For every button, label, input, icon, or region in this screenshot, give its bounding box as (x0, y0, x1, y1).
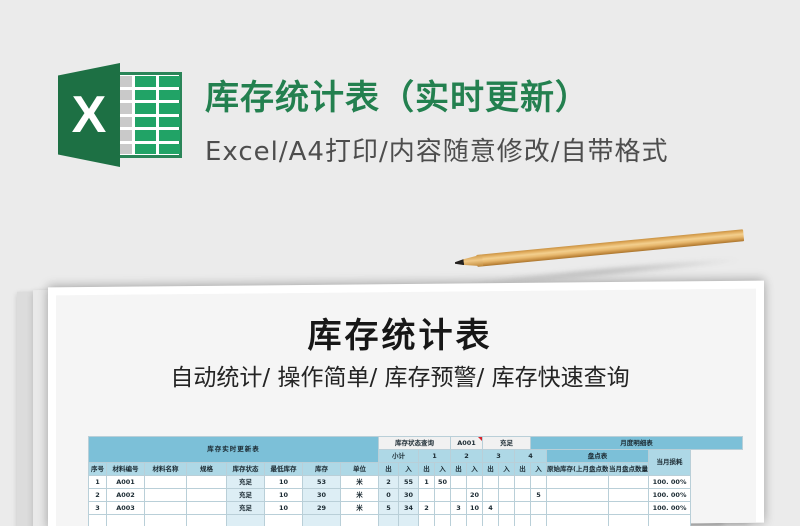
column-header-stocktake-qty: 当月盘点数量 (609, 463, 649, 476)
cell-month-3-in[interactable] (499, 489, 515, 502)
cell-month-2-in[interactable] (467, 515, 483, 526)
excel-logo-icon: X (58, 61, 182, 169)
cell-material-name[interactable] (145, 502, 187, 515)
cell-subtotal-out[interactable] (379, 515, 399, 526)
month-2-out-header: 出 (451, 463, 467, 476)
cell-spec[interactable] (187, 515, 227, 526)
cell-monthly-loss[interactable] (649, 515, 691, 526)
cell-stocktake-qty[interactable] (609, 476, 649, 489)
cell-month-4-in[interactable] (531, 515, 547, 526)
cell-material-code[interactable]: A001 (107, 476, 145, 489)
document-title: 库存统计表 (0, 308, 800, 357)
query-material-value: A001 (457, 439, 476, 447)
column-header-loss: 当月损耗 (649, 450, 691, 476)
cell-month-4-in[interactable] (531, 502, 547, 515)
column-header-stock: 库存 (303, 463, 341, 476)
month-2-in-header: 入 (467, 463, 483, 476)
table-row[interactable]: 1A001充足1053米255150100. 00% (89, 476, 743, 489)
table-body: 1A001充足1053米255150100. 00%2A002充足1030米03… (89, 476, 743, 526)
column-header-index: 序号 (89, 463, 107, 476)
cell-subtotal-out[interactable]: 2 (379, 476, 399, 489)
cell-month-1-out[interactable] (419, 515, 435, 526)
poster-canvas: X 库存统计表（实时更新） Excel/A4打印/内容随意修改/自带格式 库存统… (0, 0, 800, 526)
cell-month-3-in[interactable] (499, 476, 515, 489)
cell-month-3-in[interactable] (499, 515, 515, 526)
cell-row-index[interactable]: 2 (89, 489, 107, 502)
month-1-in-header: 入 (435, 463, 451, 476)
column-header-min-stock: 最低库存 (265, 463, 303, 476)
cell-month-2-out[interactable] (451, 489, 467, 502)
cell-monthly-loss[interactable]: 100. 00% (649, 476, 691, 489)
cell-original-stock[interactable] (547, 515, 609, 526)
cell-subtotal-out[interactable]: 0 (379, 489, 399, 502)
cell-original-stock[interactable] (547, 476, 609, 489)
cell-material-name[interactable] (145, 515, 187, 526)
pencil-tip (455, 259, 465, 266)
table-row[interactable]: 2A002充足1030米030205100. 00% (89, 489, 743, 502)
subtotal-in-header: 入 (399, 463, 419, 476)
cell-material-code[interactable]: A002 (107, 489, 145, 502)
cell-month-4-in[interactable]: 5 (531, 489, 547, 502)
cell-stock[interactable] (303, 515, 341, 526)
cell-month-3-out[interactable] (483, 476, 499, 489)
cell-min-stock[interactable]: 10 (265, 489, 303, 502)
cell-unit[interactable]: 米 (341, 502, 379, 515)
table-band-row: 库存实时更新表 库存状态查询 A001 充足 月度明细表 (89, 437, 743, 450)
inventory-table: 库存实时更新表 库存状态查询 A001 充足 月度明细表 小计 1 2 3 4 (88, 436, 743, 526)
cell-original-stock[interactable] (547, 502, 609, 515)
cell-stock[interactable]: 30 (303, 489, 341, 502)
cell-subtotal-in[interactable]: 34 (399, 502, 419, 515)
cell-month-1-out[interactable] (419, 489, 435, 502)
cell-unit[interactable]: 米 (341, 489, 379, 502)
cell-original-stock[interactable] (547, 489, 609, 502)
cell-unit[interactable]: 米 (341, 476, 379, 489)
cell-material-code[interactable]: A003 (107, 502, 145, 515)
month-4-in-header: 入 (531, 463, 547, 476)
group-header-stocktake: 盘点表 (547, 450, 649, 463)
month-1-out-header: 出 (419, 463, 435, 476)
page-subtitle: Excel/A4打印/内容随意修改/自带格式 (205, 131, 785, 168)
cell-material-name[interactable] (145, 476, 187, 489)
cell-stock[interactable]: 29 (303, 502, 341, 515)
comment-marker-icon (478, 437, 482, 441)
cell-month-2-in[interactable] (467, 476, 483, 489)
query-label: 库存状态查询 (379, 437, 451, 450)
cell-month-4-out[interactable] (515, 476, 531, 489)
cell-month-3-out[interactable] (483, 515, 499, 526)
cell-stock-status[interactable]: 充足 (227, 502, 265, 515)
cell-min-stock[interactable]: 10 (265, 502, 303, 515)
cell-stock[interactable]: 53 (303, 476, 341, 489)
cell-month-2-out[interactable] (451, 515, 467, 526)
cell-unit[interactable] (341, 515, 379, 526)
cell-month-1-out[interactable]: 1 (419, 476, 435, 489)
cell-month-1-out[interactable]: 2 (419, 502, 435, 515)
cell-stock-status[interactable]: 充足 (227, 476, 265, 489)
column-header-material-name: 材料名称 (145, 463, 187, 476)
cell-month-3-in[interactable] (499, 502, 515, 515)
cell-month-2-in[interactable]: 20 (467, 489, 483, 502)
cell-spec[interactable] (187, 476, 227, 489)
cell-month-1-in[interactable] (435, 489, 451, 502)
month-4-out-header: 出 (515, 463, 531, 476)
cell-row-index[interactable] (89, 515, 107, 526)
column-header-spec: 规格 (187, 463, 227, 476)
cell-min-stock[interactable]: 10 (265, 476, 303, 489)
query-status-value: 充足 (483, 437, 531, 450)
page-title: 库存统计表（实时更新） (205, 70, 785, 119)
cell-month-2-in[interactable]: 10 (467, 502, 483, 515)
cell-stock-status[interactable]: 充足 (227, 489, 265, 502)
month-3-in-header: 入 (499, 463, 515, 476)
cell-row-index[interactable]: 1 (89, 476, 107, 489)
cell-month-1-in[interactable] (435, 515, 451, 526)
band-title: 库存实时更新表 (89, 437, 379, 463)
column-header-unit: 单位 (341, 463, 379, 476)
cell-stocktake-qty[interactable] (609, 502, 649, 515)
subtotal-out-header: 出 (379, 463, 399, 476)
group-header-subtotal: 小计 (379, 450, 419, 463)
cell-month-1-in[interactable] (435, 502, 451, 515)
cell-monthly-loss[interactable]: 100. 00% (649, 489, 691, 502)
month-header-4: 4 (515, 450, 547, 463)
cell-month-3-out[interactable] (483, 489, 499, 502)
table-header-row: 序号 材料编号 材料名称 规格 库存状态 最低库存 库存 单位 出 入 出 入 … (89, 463, 743, 476)
month-header-2: 2 (451, 450, 483, 463)
spreadsheet-preview: 库存实时更新表 库存状态查询 A001 充足 月度明细表 小计 1 2 3 4 (88, 436, 743, 526)
month-header-3: 3 (483, 450, 515, 463)
cell-monthly-loss[interactable]: 100. 00% (649, 502, 691, 515)
cell-stocktake-qty[interactable] (609, 489, 649, 502)
excel-logo-grid (118, 76, 180, 154)
table-row[interactable]: 3A003充足1029米53423104100. 00% (89, 502, 743, 515)
cell-min-stock[interactable] (265, 515, 303, 526)
cell-subtotal-in[interactable]: 30 (399, 489, 419, 502)
cell-month-2-out[interactable] (451, 476, 467, 489)
cell-month-2-out[interactable]: 3 (451, 502, 467, 515)
cell-material-name[interactable] (145, 489, 187, 502)
cell-month-4-out[interactable] (515, 489, 531, 502)
table-row[interactable] (89, 515, 743, 526)
cell-subtotal-in[interactable] (399, 515, 419, 526)
cell-subtotal-out[interactable]: 5 (379, 502, 399, 515)
cell-month-4-out[interactable] (515, 502, 531, 515)
cell-spec[interactable] (187, 489, 227, 502)
cell-month-3-out[interactable]: 4 (483, 502, 499, 515)
cell-month-4-out[interactable] (515, 515, 531, 526)
cell-month-4-in[interactable] (531, 476, 547, 489)
column-header-stock-status: 库存状态 (227, 463, 265, 476)
query-material-input[interactable]: A001 (451, 437, 483, 450)
cell-material-code[interactable] (107, 515, 145, 526)
month-header-1: 1 (419, 450, 451, 463)
excel-logo-letter: X (58, 63, 120, 167)
month-3-out-header: 出 (483, 463, 499, 476)
group-header-monthly: 月度明细表 (531, 437, 743, 450)
column-header-original-stock: 原始库存(上月盘点数） (547, 463, 609, 476)
cell-month-1-in[interactable]: 50 (435, 476, 451, 489)
cell-subtotal-in[interactable]: 55 (399, 476, 419, 489)
document-subtitle: 自动统计/ 操作简单/ 库存预警/ 库存快速查询 (0, 358, 800, 392)
cell-spec[interactable] (187, 502, 227, 515)
cell-stocktake-qty[interactable] (609, 515, 649, 526)
column-header-material-code: 材料编号 (107, 463, 145, 476)
cell-stock-status[interactable] (227, 515, 265, 526)
cell-row-index[interactable]: 3 (89, 502, 107, 515)
